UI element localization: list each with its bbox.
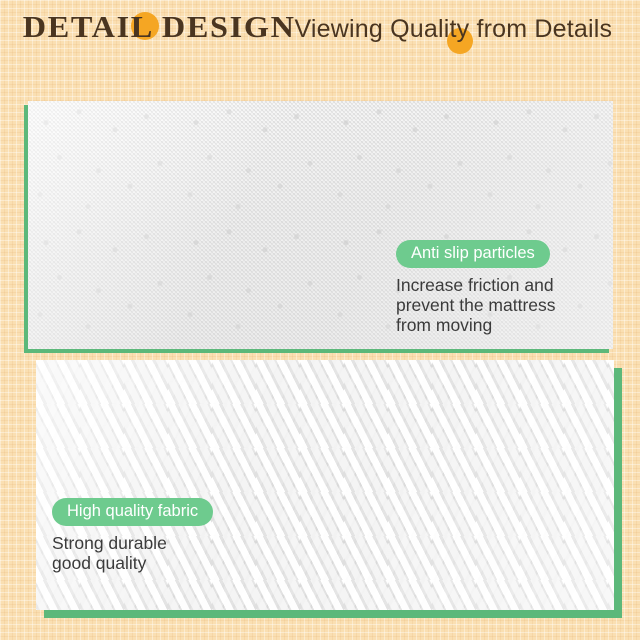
callout-high-quality-fabric: High quality fabric Strong durable good … — [52, 498, 262, 573]
description-high-quality-fabric: Strong durable good quality — [52, 533, 262, 573]
title-block: DETAIL DESIGN — [28, 9, 290, 45]
page-title: DETAIL DESIGN — [23, 9, 296, 45]
callout-anti-slip-particles: Anti slip particles Increase friction an… — [396, 240, 596, 335]
page-header: DETAIL DESIGN Viewing Quality from Detai… — [0, 0, 640, 96]
page-subtitle: Viewing Quality from Details — [294, 13, 612, 45]
subtitle-block: Viewing Quality from Details — [294, 13, 612, 45]
description-anti-slip-particles: Increase friction and prevent the mattre… — [396, 275, 596, 335]
detail-design-page: DETAIL DESIGN Viewing Quality from Detai… — [0, 0, 640, 640]
pill-label-high-quality-fabric: High quality fabric — [52, 498, 213, 526]
pill-label-anti-slip-particles: Anti slip particles — [396, 240, 550, 268]
